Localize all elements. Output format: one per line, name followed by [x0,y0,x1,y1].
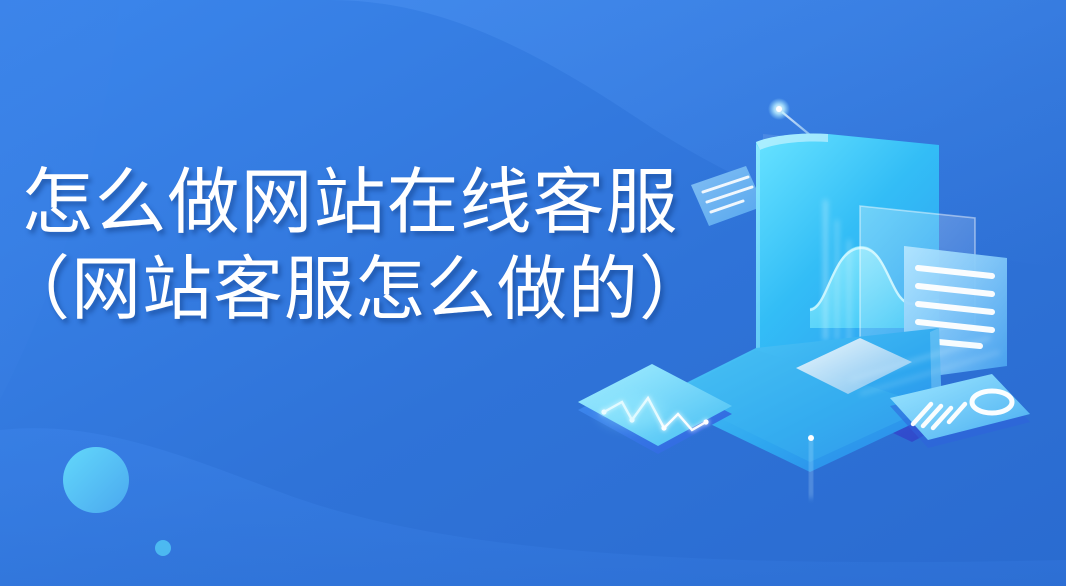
page-title-line-1: 怎么做网站在线客服 [0,160,700,248]
banner-title-block: 怎么做网站在线客服 （网站客服怎么做的） [0,160,700,333]
promo-banner: 怎么做网站在线客服 （网站客服怎么做的） [0,0,1066,586]
decorative-circle-large [63,447,129,513]
decorative-circle-small [155,540,171,556]
page-title-line-2: （网站客服怎么做的） [0,248,700,333]
floating-message-card [691,166,764,226]
